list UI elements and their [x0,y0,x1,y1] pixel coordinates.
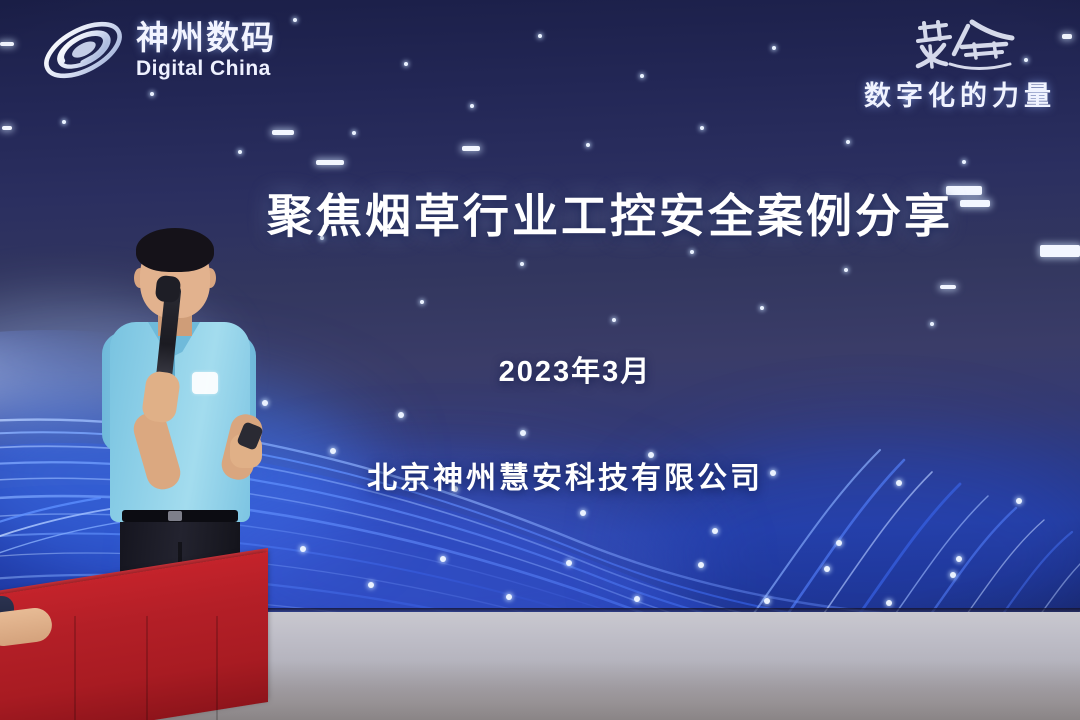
light-particle [420,300,424,304]
light-particle [956,556,962,562]
light-particle [368,582,374,588]
light-streak [316,160,344,165]
light-particle [712,528,718,534]
light-particle [760,306,764,310]
table-cloth-fold [74,616,76,720]
microphone-head-icon [155,275,182,303]
light-particle [62,120,66,124]
light-particle [404,62,408,66]
light-particle [506,594,512,600]
light-streak [2,126,12,130]
light-particle [886,600,892,606]
digital-china-swirl-icon [40,18,126,82]
light-particle [440,556,446,562]
light-particle [634,596,640,602]
speaker-shirt-logo [192,372,218,394]
light-particle [930,322,934,326]
light-streak [940,285,956,289]
light-particle [962,160,966,164]
event-theme-subtitle: 数字化的力量 [864,74,1056,113]
light-particle [846,140,850,144]
light-streak [1040,245,1080,257]
light-particle [470,104,474,108]
light-particle [690,250,694,254]
light-particle [150,92,154,96]
digital-china-logo: 神州数码 Digital China [40,18,276,82]
light-particle [238,150,242,154]
juhe-calligraphy-icon [906,14,1056,76]
light-particle [844,268,848,272]
light-particle [293,18,297,22]
light-streak [272,130,294,135]
speaker-hair [136,228,214,272]
front-row-attendee [0,596,60,668]
conference-stage-photo: 神州数码 Digital China 数字化的力量 [0,0,1080,720]
speaker-belt-buckle [168,511,182,521]
light-particle [698,562,704,568]
light-particle [612,318,616,322]
light-particle [700,126,704,130]
light-particle [836,540,842,546]
event-theme-logo: 数字化的力量 [864,14,1056,113]
light-particle [640,74,644,78]
light-particle [300,546,306,552]
light-particle [538,34,542,38]
attendee-arm [0,606,54,648]
table-cloth-fold [216,616,218,720]
light-particle [772,46,776,50]
light-particle [520,262,524,266]
light-particle [352,131,356,135]
light-particle [566,560,572,566]
light-particle [520,430,526,436]
digital-china-chinese-name: 神州数码 [136,21,276,54]
digital-china-english-name: Digital China [136,58,276,79]
light-particle [580,510,586,516]
light-particle [824,566,830,572]
light-streak [462,146,480,151]
light-particle [398,412,404,418]
table-cloth-fold [146,616,148,720]
light-particle [950,572,956,578]
light-streak [0,42,14,46]
light-particle [1016,498,1022,504]
light-streak [1062,34,1072,39]
light-particle [764,598,770,604]
light-particle [586,143,590,147]
